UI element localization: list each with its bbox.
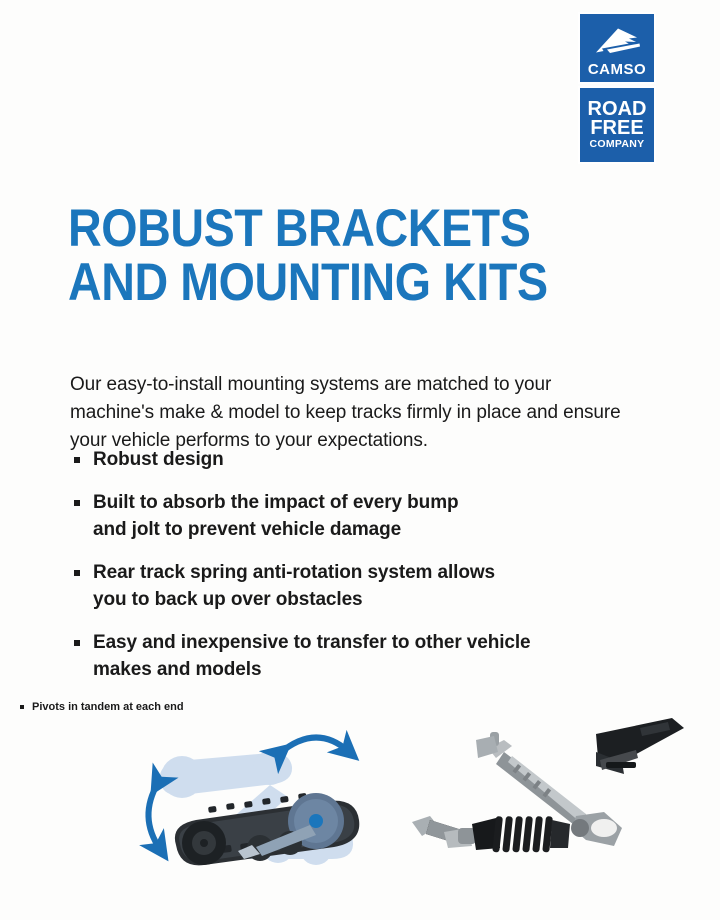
list-item: Rear track spring anti-rotation system a… (70, 559, 640, 613)
footnote-pivots: Pivots in tandem at each end (18, 700, 184, 714)
camso-mountain-track-icon (592, 24, 642, 60)
pivot-arrow-left (148, 783, 160, 849)
tagline-free: FREE (590, 119, 643, 138)
camso-wordmark: CAMSO (588, 62, 646, 77)
road-free-company-tile: ROAD FREE COMPANY (578, 86, 656, 164)
intro-paragraph: Our easy-to-install mounting systems are… (70, 371, 630, 455)
list-item: Built to absorb the impact of every bump… (70, 489, 640, 543)
black-mounting-bracket-photo (596, 718, 684, 774)
track-system-pivot-diagram (120, 725, 400, 890)
pivot-arrow-top (280, 737, 348, 753)
camso-logo-tile: CAMSO (578, 12, 656, 84)
product-photos (400, 712, 690, 882)
page-title: ROBUST BRACKETS AND MOUNTING KITS (68, 202, 548, 310)
tagline-company: COMPANY (590, 138, 645, 151)
feature-list: Robust design Built to absorb the impact… (70, 446, 640, 699)
camso-logo: CAMSO ROAD FREE COMPANY (578, 12, 656, 164)
list-item: Robust design (70, 446, 640, 473)
anti-rotation-spring-photo (412, 816, 570, 853)
marketing-page: CAMSO ROAD FREE COMPANY ROBUST BRACKETS … (0, 0, 720, 920)
list-item: Easy and inexpensive to transfer to othe… (70, 629, 640, 683)
